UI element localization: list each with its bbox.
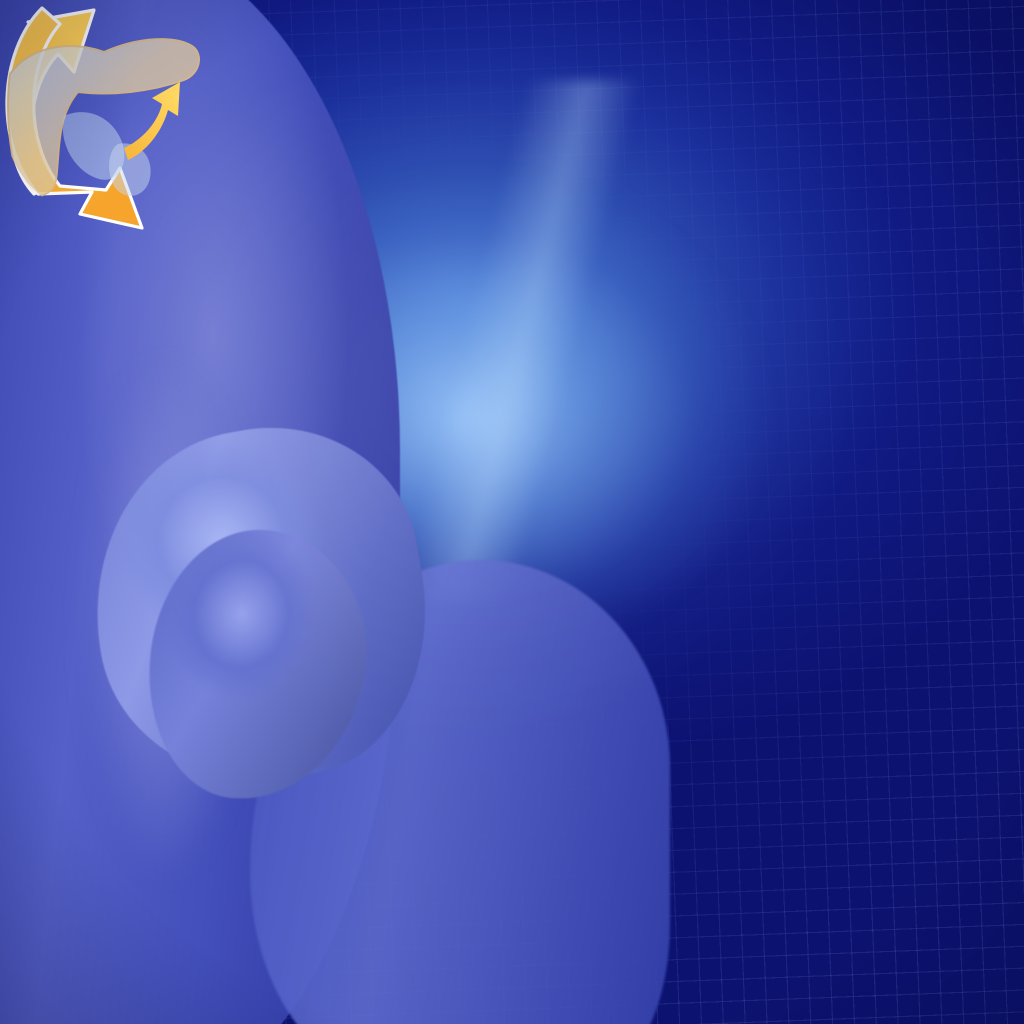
vignette bbox=[0, 0, 1024, 1024]
promo-banner: + 40% + 40% Endurance Boost - 50% - 50% … bbox=[0, 0, 1024, 1024]
